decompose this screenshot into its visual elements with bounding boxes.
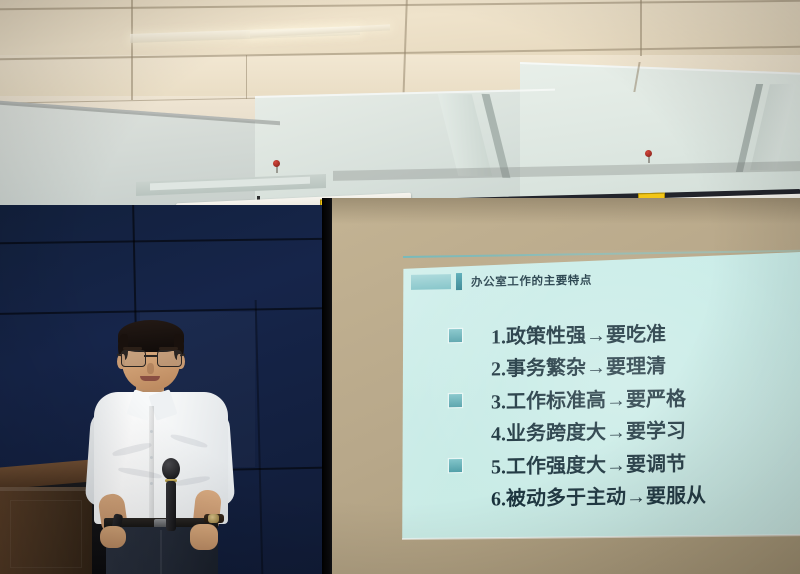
shirt-button	[150, 456, 153, 459]
title-decor-rect	[411, 274, 451, 290]
shirt-placket	[149, 406, 154, 520]
glasses-bridge	[144, 355, 158, 357]
glasses-lens	[157, 350, 182, 367]
bullet-square-icon	[449, 459, 462, 472]
hand	[100, 526, 126, 548]
title-decor-bar	[456, 273, 462, 290]
slide-title: 办公室工作的主要特点	[471, 271, 592, 289]
slide-title-block: 办公室工作的主要特点	[411, 271, 592, 291]
microphone-head	[162, 458, 180, 480]
nose	[147, 363, 154, 374]
microphone-icon	[162, 458, 180, 532]
list-item-label: 3.工作标准高→要严格	[491, 382, 686, 414]
hand	[190, 524, 218, 550]
slide-bullet-list: 1.政策性强→要吃准 2.事务繁杂→要理清 3.工作标准高→要严格 4.业务跨度…	[435, 314, 785, 515]
list-item-label: 2.事务繁杂→要理清	[491, 350, 666, 382]
glasses-lens	[121, 350, 146, 367]
list-item-label: 6.被动多于主动→要服从	[491, 479, 706, 512]
trouser-crease	[160, 530, 162, 574]
lecture-room-photo: 办公室工作的主要特点 1.政策性强→要吃准 2.事务繁杂→要理清 3.工作标准高…	[0, 0, 800, 574]
slide-surface: 办公室工作的主要特点 1.政策性强→要吃准 2.事务繁杂→要理清 3.工作标准高…	[401, 252, 800, 542]
bullet-square-icon	[449, 394, 462, 407]
bullet-square-icon	[449, 329, 462, 342]
mouth	[140, 376, 160, 381]
list-item: 6.被动多于主动→要服从	[435, 476, 785, 514]
list-item-label: 1.政策性强→要吃准	[491, 317, 666, 349]
presenter	[78, 318, 244, 574]
shirt-button	[150, 430, 153, 433]
list-item-label: 4.业务跨度大→要学习	[491, 415, 686, 447]
list-item-label: 5.工作强度大→要调节	[491, 447, 686, 479]
shirt-button	[150, 482, 153, 485]
wristwatch-face	[208, 514, 219, 523]
microphone-body	[166, 481, 176, 531]
